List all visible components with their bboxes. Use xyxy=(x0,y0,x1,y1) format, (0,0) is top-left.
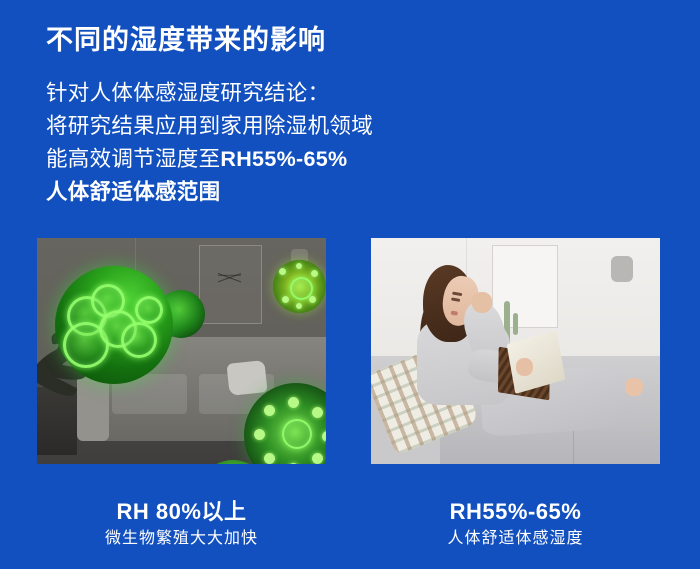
intro-line-3-prefix: 能高效调节湿度至 xyxy=(46,147,220,171)
microbe-dot xyxy=(312,407,323,418)
microbe-dot xyxy=(288,397,299,408)
bright-room-scene xyxy=(371,238,660,464)
microbe-dot xyxy=(264,405,275,416)
caption-sub: 微生物繁殖大大加快 xyxy=(37,526,326,552)
dim-room-scene xyxy=(37,238,326,464)
woman-eyebrow xyxy=(452,292,463,297)
caption-comfort-humidity: RH55%-65% 人体舒适体感湿度 xyxy=(371,498,660,552)
microbe-dot xyxy=(282,296,289,303)
intro-line-4: 人体舒适体感范围 xyxy=(46,176,373,209)
microbe-sphere-small xyxy=(273,260,326,313)
woman-lips xyxy=(451,311,459,316)
intro-line-3-highlight: RH55%-65% xyxy=(220,147,347,171)
page-title: 不同的湿度带来的影响 xyxy=(46,18,326,57)
microbe-dot xyxy=(312,453,323,464)
microbe-sphere-large xyxy=(55,266,173,384)
intro-line-3: 能高效调节湿度至RH55%-65% xyxy=(46,143,373,176)
microbe-dot xyxy=(288,463,299,464)
photo-high-humidity xyxy=(37,238,326,464)
microbe-dot xyxy=(311,270,318,277)
wall-art-frame xyxy=(492,245,558,328)
woman-hand xyxy=(472,292,492,312)
caption-sub: 人体舒适体感湿度 xyxy=(371,526,660,552)
microbe-dot xyxy=(296,263,302,269)
microbe-dot xyxy=(309,296,316,303)
caption-main: RH 80%以上 xyxy=(37,498,326,526)
intro-line-1: 针对人体体感湿度研究结论： xyxy=(46,77,373,110)
photo-comfort-humidity xyxy=(371,238,660,464)
wall-art-frame xyxy=(199,245,262,324)
caption-high-humidity: RH 80%以上 微生物繁殖大大加快 xyxy=(37,498,326,552)
microbe-cell xyxy=(282,419,312,449)
cactus-arm xyxy=(513,313,518,335)
plant-pot xyxy=(37,387,77,455)
microbe-dot xyxy=(279,268,286,275)
microbe-dot xyxy=(254,429,265,440)
woman-eye xyxy=(452,298,461,303)
microbe-cell xyxy=(121,322,157,358)
caption-main: RH55%-65% xyxy=(371,498,660,526)
woman-hand xyxy=(516,358,533,376)
intro-line-2: 将研究结果应用到家用除湿机领域 xyxy=(46,110,373,143)
humidity-infographic: 不同的湿度带来的影响 针对人体体感湿度研究结论： 将研究结果应用到家用除湿机领域… xyxy=(0,0,700,569)
microbe-cell xyxy=(135,296,163,324)
microbe-dot xyxy=(264,453,275,464)
intro-paragraph: 针对人体体感湿度研究结论： 将研究结果应用到家用除湿机领域 能高效调节湿度至RH… xyxy=(46,77,373,209)
sofa-pillow xyxy=(226,360,267,395)
wall-speaker xyxy=(611,256,633,282)
microbe-dot xyxy=(296,303,302,309)
woman-foot xyxy=(625,378,642,396)
